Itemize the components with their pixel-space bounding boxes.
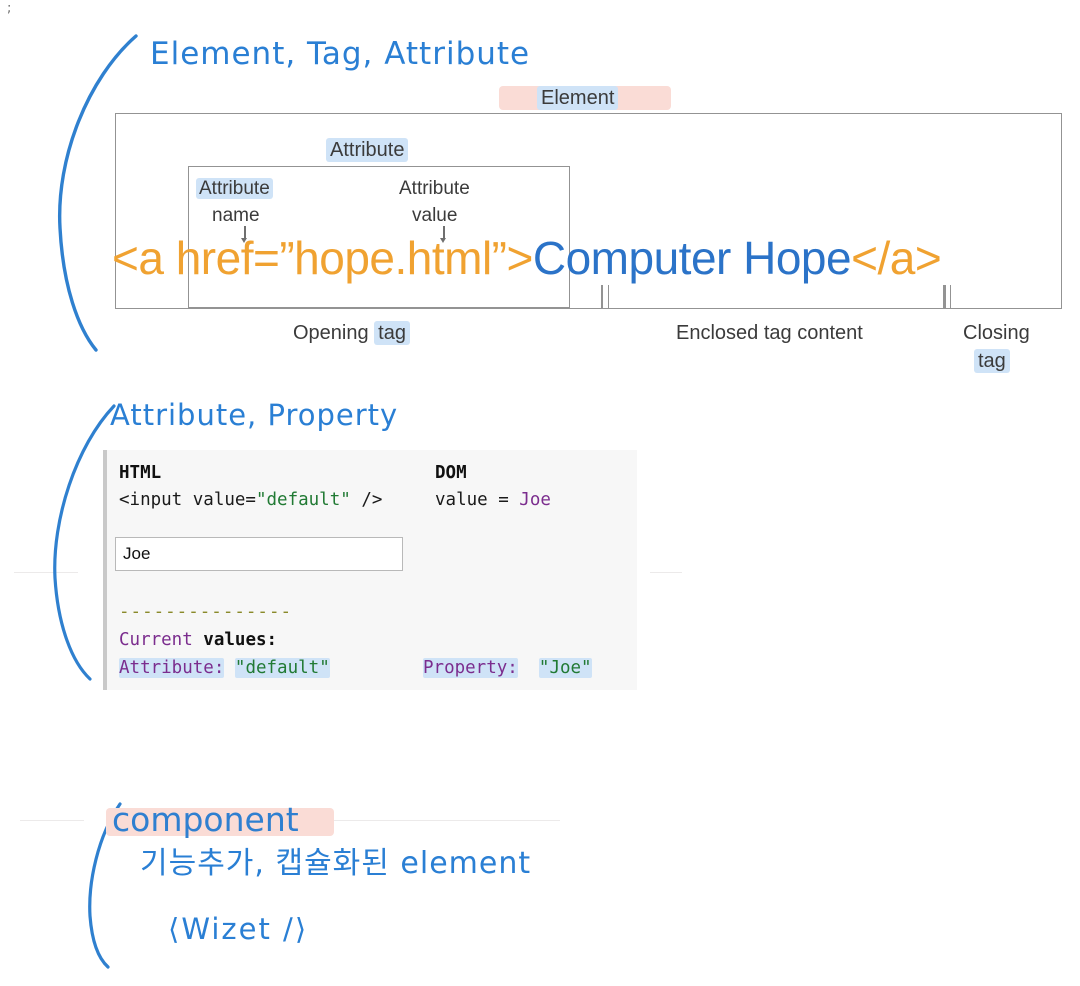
- attribute-label: Attribute: [326, 138, 408, 162]
- code-divider: ---------------: [119, 602, 292, 622]
- component-heading: component: [112, 800, 299, 839]
- element-label: Element: [537, 86, 618, 110]
- closing-tag-code: </a>: [851, 232, 941, 284]
- values-word: values:: [193, 630, 277, 650]
- joe-text-input[interactable]: Joe: [115, 537, 403, 571]
- attribute-name-label-top: Attribute: [196, 178, 273, 199]
- attribute-row-label: Attribute:: [119, 658, 224, 678]
- attribute-current-value-row: Attribute: "default": [119, 658, 330, 678]
- attribute-name-label-bottom: name: [212, 205, 260, 227]
- opening-tag-code: <a href=”hope.html”>: [112, 232, 533, 284]
- html-tag-anatomy-diagram: Element Attribute Attribute name Attribu…: [0, 0, 1080, 390]
- enclosed-content-bracket: [608, 285, 944, 309]
- box-separator: [944, 285, 946, 309]
- dom-code-line: value = Joe: [435, 490, 551, 510]
- closing-tag-bracket: [950, 285, 1062, 309]
- current-keyword: Current: [119, 630, 193, 650]
- attribute-value-label-top: Attribute: [399, 178, 470, 200]
- dom-code-value: Joe: [519, 490, 551, 510]
- ruled-line: [330, 820, 560, 821]
- opening-tag-caption-plain: Opening: [293, 322, 374, 344]
- dom-column-header: DOM: [435, 463, 467, 483]
- property-current-value-row: Property: "Joe": [423, 658, 592, 678]
- ruled-line: [20, 820, 84, 821]
- html-code-tag-open: <input value=: [119, 490, 256, 510]
- notebook-page: ; Element, Tag, Attribute Element Attrib…: [0, 0, 1080, 986]
- html-code-line: <input value="default" />: [119, 490, 382, 510]
- closing-tag-caption-line1: Closing: [963, 322, 1030, 345]
- current-values-label: Current values:: [119, 630, 277, 650]
- html-tag-code: <a href=”hope.html”>Computer Hope</a>: [112, 231, 941, 285]
- property-row-value: "Joe": [539, 658, 592, 678]
- tag-content-code: Computer Hope: [533, 232, 851, 284]
- heading-attribute-property: Attribute, Property: [110, 398, 398, 432]
- component-note-wizet: ⟨Wizet /⟩: [168, 912, 308, 946]
- component-note-korean: 기능추가, 캡슐화된 element: [140, 838, 531, 882]
- opening-tag-caption-highlight: tag: [374, 321, 410, 345]
- attribute-row-value: "default": [235, 658, 330, 678]
- attribute-value-label-bottom: value: [412, 205, 457, 227]
- property-row-label: Property:: [423, 658, 518, 678]
- dom-code-equals: =: [488, 490, 520, 510]
- html-code-tag-close: />: [351, 490, 383, 510]
- closing-tag-caption-line2: tag: [974, 349, 1010, 373]
- enclosed-content-caption: Enclosed tag content: [676, 322, 863, 345]
- ruled-line: [650, 572, 682, 573]
- dom-code-property: value: [435, 490, 488, 510]
- html-column-header: HTML: [119, 463, 161, 483]
- html-code-string: "default": [256, 490, 351, 510]
